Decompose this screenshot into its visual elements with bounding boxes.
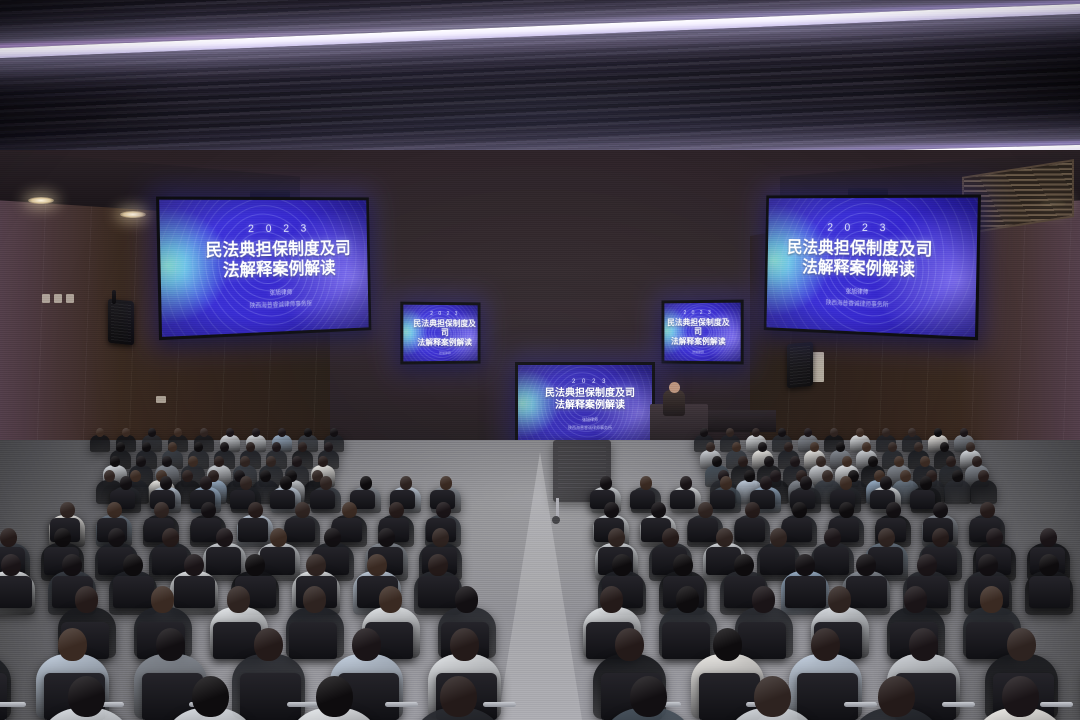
hair-highlight bbox=[318, 456, 328, 467]
hair-highlight bbox=[266, 456, 276, 467]
hair-highlight bbox=[744, 470, 755, 482]
hair-highlight bbox=[932, 528, 949, 547]
audience-member-head bbox=[246, 442, 255, 452]
audience-member-head bbox=[932, 528, 949, 547]
hair-highlight bbox=[200, 476, 212, 490]
audience-member-head bbox=[934, 428, 942, 437]
seminar-chair bbox=[797, 673, 858, 720]
hair-highlight bbox=[455, 586, 478, 613]
hair-highlight bbox=[226, 428, 234, 437]
audience-member-head bbox=[680, 476, 692, 490]
audience-member-head bbox=[120, 476, 132, 490]
audience-member-head bbox=[379, 586, 402, 613]
hair-highlight bbox=[828, 586, 851, 613]
display-mid-right: 2 0 2 3 民法典担保制度及司 法解释案例解读 张旭律师 bbox=[662, 300, 744, 365]
hair-highlight bbox=[248, 502, 263, 518]
audience-member-head bbox=[980, 586, 1003, 613]
hair-highlight bbox=[316, 676, 353, 717]
hair-highlight bbox=[295, 502, 310, 518]
hair-highlight bbox=[1039, 554, 1059, 576]
audience-member-head bbox=[160, 476, 172, 490]
hair-highlight bbox=[980, 586, 1003, 613]
seminar-chair bbox=[760, 547, 795, 574]
hair-highlight bbox=[960, 428, 968, 437]
hair-highlight bbox=[116, 442, 125, 452]
wall-switch-plate-1[interactable] bbox=[42, 294, 50, 303]
audience-member-head bbox=[917, 554, 937, 576]
hair-highlight bbox=[367, 554, 387, 576]
seminar-chair bbox=[710, 490, 735, 509]
audience-member-head bbox=[162, 528, 179, 547]
audience-member-head bbox=[260, 470, 271, 482]
stage-screen-title-1: 民法典担保制度及司 bbox=[545, 388, 635, 400]
audience-member-head bbox=[816, 456, 826, 467]
display-mid-left-year: 2 0 2 3 bbox=[430, 311, 459, 317]
hair-highlight bbox=[324, 528, 341, 547]
seminar-chair bbox=[688, 518, 718, 541]
hair-highlight bbox=[824, 528, 841, 547]
seminar-chair bbox=[270, 490, 295, 509]
audience-member-head bbox=[840, 476, 852, 490]
audience-member-head bbox=[151, 586, 174, 613]
hair-highlight bbox=[306, 554, 326, 576]
audience-member-head bbox=[904, 586, 927, 613]
hair-highlight bbox=[278, 428, 286, 437]
hair-highlight bbox=[389, 502, 404, 518]
audience-member-head bbox=[154, 502, 169, 518]
conference-hall-photo: 2 0 2 3 民法典担保制度及司 法解释案例解读 张旭律师 陕西海普睿诚律师事… bbox=[0, 0, 1080, 720]
hair-highlight bbox=[604, 502, 619, 518]
audience-member-head bbox=[842, 456, 852, 467]
audience-member-head bbox=[96, 428, 104, 437]
chair-tablet-arm bbox=[385, 702, 418, 707]
audience-member-head bbox=[136, 456, 146, 467]
audience-member-head bbox=[966, 442, 975, 452]
audience-member-head bbox=[700, 428, 708, 437]
audience-member-head bbox=[933, 502, 948, 518]
wall-notice-card bbox=[812, 352, 824, 382]
display-mid-left: 2 0 2 3 民法典担保制度及司 法解释案例解读 张旭律师 bbox=[400, 302, 480, 365]
hair-highlight bbox=[600, 586, 623, 613]
audience-member-head bbox=[744, 470, 755, 482]
audience-member-head bbox=[400, 476, 412, 490]
hair-highlight bbox=[151, 586, 174, 613]
chair-tablet-arm bbox=[287, 702, 320, 707]
wall-switch-plate-2[interactable] bbox=[54, 294, 62, 303]
audience-member-torso bbox=[970, 480, 997, 504]
audience-member-head bbox=[60, 502, 75, 518]
hair-highlight bbox=[436, 502, 451, 518]
hair-highlight bbox=[62, 554, 82, 576]
chair-tablet-arm bbox=[0, 702, 26, 707]
audience-member-head bbox=[378, 528, 395, 547]
hair-highlight bbox=[254, 628, 283, 661]
audience-member-head bbox=[316, 676, 353, 717]
audience-member-head bbox=[330, 428, 338, 437]
hair-highlight bbox=[75, 586, 98, 613]
hair-highlight bbox=[716, 528, 733, 547]
hair-highlight bbox=[886, 502, 901, 518]
audience-member-head bbox=[738, 456, 748, 467]
hair-highlight bbox=[790, 456, 800, 467]
audience-member-head bbox=[245, 554, 265, 576]
display-left: 2 0 2 3 民法典担保制度及司 法解释案例解读 张旭律师 陕西海普睿诚律师事… bbox=[156, 197, 371, 341]
audience-member-head bbox=[698, 502, 713, 518]
audience-member-head bbox=[676, 586, 699, 613]
audience-member-head bbox=[1039, 554, 1059, 576]
hair-highlight bbox=[156, 628, 185, 661]
hair-highlight bbox=[662, 528, 679, 547]
hair-highlight bbox=[272, 442, 281, 452]
audience-member-head bbox=[108, 528, 125, 547]
hair-highlight bbox=[795, 554, 815, 576]
audience-member-head bbox=[1, 554, 21, 576]
audience-member-head bbox=[600, 476, 612, 490]
audience-member-head bbox=[248, 502, 263, 518]
hair-highlight bbox=[920, 456, 930, 467]
display-mid-left-title-1: 民法典担保制度及司 bbox=[411, 319, 477, 338]
hair-highlight bbox=[292, 456, 302, 467]
hair-highlight bbox=[800, 476, 812, 490]
audience-member-head bbox=[630, 676, 667, 717]
audience-member-head bbox=[972, 456, 982, 467]
hair-highlight bbox=[804, 428, 812, 437]
audience-member-head bbox=[824, 528, 841, 547]
audience-member-head bbox=[804, 428, 812, 437]
audience-member-head bbox=[978, 554, 998, 576]
audience-member-head bbox=[811, 628, 840, 661]
hair-highlight bbox=[201, 502, 216, 518]
hair-highlight bbox=[298, 442, 307, 452]
hair-highlight bbox=[304, 428, 312, 437]
audience-member-head bbox=[278, 428, 286, 437]
hair-highlight bbox=[934, 428, 942, 437]
hair-highlight bbox=[904, 586, 927, 613]
audience-member-head bbox=[790, 456, 800, 467]
audience-member-head bbox=[306, 554, 326, 576]
hair-highlight bbox=[698, 502, 713, 518]
audience-member-head bbox=[352, 628, 381, 661]
audience-member-head bbox=[952, 470, 963, 482]
audience-member-head bbox=[200, 476, 212, 490]
hair-highlight bbox=[220, 442, 229, 452]
seminar-chair bbox=[260, 547, 295, 574]
hair-highlight bbox=[760, 476, 772, 490]
audience-member-head bbox=[764, 456, 774, 467]
hair-highlight bbox=[303, 586, 326, 613]
audience-member-head bbox=[162, 456, 172, 467]
hair-highlight bbox=[810, 442, 819, 452]
hair-highlight bbox=[280, 476, 292, 490]
audience-member-head bbox=[318, 456, 328, 467]
hair-highlight bbox=[58, 628, 87, 661]
hair-highlight bbox=[734, 554, 754, 576]
seminar-chair bbox=[814, 547, 849, 574]
wall-speaker-right bbox=[787, 342, 813, 389]
hair-highlight bbox=[246, 442, 255, 452]
audience-member-head bbox=[123, 554, 143, 576]
audience-member-head bbox=[54, 528, 71, 547]
hair-highlight bbox=[227, 586, 250, 613]
audience-member-head bbox=[878, 676, 915, 717]
hair-highlight bbox=[732, 442, 741, 452]
hair-highlight bbox=[188, 456, 198, 467]
hair-highlight bbox=[946, 456, 956, 467]
audience-member-head bbox=[188, 456, 198, 467]
audience-member-head bbox=[75, 586, 98, 613]
hair-highlight bbox=[880, 476, 892, 490]
hair-highlight bbox=[920, 476, 932, 490]
hair-highlight bbox=[352, 628, 381, 661]
chair-tablet-arm bbox=[483, 702, 516, 707]
audience-member-head bbox=[254, 628, 283, 661]
hair-highlight bbox=[440, 476, 452, 490]
audience-member-head bbox=[778, 428, 786, 437]
audience-member-head bbox=[240, 476, 252, 490]
audience-member-head bbox=[752, 428, 760, 437]
display-mid-right-speaker: 张旭律师 bbox=[692, 350, 704, 354]
audience-member-head bbox=[107, 502, 122, 518]
audience-member-head bbox=[608, 528, 625, 547]
audience-member-head bbox=[295, 502, 310, 518]
hair-highlight bbox=[245, 554, 265, 576]
audience-member-head bbox=[960, 428, 968, 437]
hair-highlight bbox=[608, 528, 625, 547]
audience-member-head bbox=[324, 442, 333, 452]
audience-member-head bbox=[298, 442, 307, 452]
audience-member-head bbox=[920, 476, 932, 490]
hair-highlight bbox=[260, 470, 271, 482]
audience-member-head bbox=[792, 502, 807, 518]
audience-member-head bbox=[720, 476, 732, 490]
audience-member-head bbox=[360, 476, 372, 490]
seminar-chair bbox=[285, 518, 315, 541]
seminar-chair bbox=[662, 622, 710, 659]
hair-highlight bbox=[184, 554, 204, 576]
seminar-chair bbox=[0, 576, 32, 607]
audience-member-head bbox=[880, 476, 892, 490]
hair-highlight bbox=[878, 676, 915, 717]
display-right-year: 2 0 2 3 bbox=[827, 222, 890, 234]
hair-highlight bbox=[270, 528, 287, 547]
seminar-chair bbox=[174, 576, 215, 607]
audience-member-head bbox=[980, 502, 995, 518]
hair-highlight bbox=[978, 470, 989, 482]
hair-highlight bbox=[811, 628, 840, 661]
hair-highlight bbox=[712, 456, 722, 467]
audience-member-head bbox=[62, 554, 82, 576]
audience-member-head bbox=[440, 676, 477, 717]
hair-highlight bbox=[136, 456, 146, 467]
hair-highlight bbox=[1002, 676, 1039, 717]
audience-member-head bbox=[651, 502, 666, 518]
hair-highlight bbox=[745, 502, 760, 518]
audience-member-head bbox=[104, 470, 115, 482]
audience-member-head bbox=[174, 428, 182, 437]
audience-member-head bbox=[428, 554, 448, 576]
hair-highlight bbox=[107, 502, 122, 518]
audience-member-head bbox=[110, 456, 120, 467]
audience-member-head bbox=[830, 428, 838, 437]
audience-member-head bbox=[156, 628, 185, 661]
display-left-title-2: 法解释案例解读 bbox=[223, 259, 336, 282]
audience-member-head bbox=[882, 428, 890, 437]
audience-member-head bbox=[367, 554, 387, 576]
hair-highlight bbox=[676, 586, 699, 613]
chair-tablet-arm bbox=[942, 702, 975, 707]
hair-highlight bbox=[148, 428, 156, 437]
hair-highlight bbox=[110, 456, 120, 467]
hair-highlight bbox=[1, 554, 21, 576]
audience-member-head bbox=[940, 442, 949, 452]
audience-member-head bbox=[800, 476, 812, 490]
hair-highlight bbox=[840, 476, 852, 490]
hair-highlight bbox=[214, 456, 224, 467]
hair-highlight bbox=[917, 554, 937, 576]
hair-highlight bbox=[122, 428, 130, 437]
hair-highlight bbox=[450, 628, 479, 661]
hair-highlight bbox=[933, 502, 948, 518]
hair-highlight bbox=[882, 428, 890, 437]
hair-highlight bbox=[830, 428, 838, 437]
audience-member-head bbox=[214, 456, 224, 467]
hair-highlight bbox=[400, 476, 412, 490]
hair-highlight bbox=[162, 456, 172, 467]
audience bbox=[0, 400, 1080, 720]
hair-highlight bbox=[754, 676, 791, 717]
audience-member-head bbox=[342, 502, 357, 518]
audience-member-head bbox=[227, 586, 250, 613]
hair-highlight bbox=[630, 676, 667, 717]
audience-member-head bbox=[810, 442, 819, 452]
hair-highlight bbox=[1007, 628, 1036, 661]
audience-member-head bbox=[770, 528, 787, 547]
audience-member-head bbox=[440, 476, 452, 490]
hair-highlight bbox=[720, 476, 732, 490]
audience-member-head bbox=[58, 628, 87, 661]
hair-highlight bbox=[123, 554, 143, 576]
audience-member-head bbox=[266, 456, 276, 467]
seminar-chair bbox=[785, 576, 826, 607]
hair-highlight bbox=[194, 442, 203, 452]
audience-member-head bbox=[856, 554, 876, 576]
audience-member-head bbox=[888, 442, 897, 452]
speaker-bracket-left bbox=[112, 290, 116, 304]
audience-member-head bbox=[1002, 676, 1039, 717]
hair-highlight bbox=[1040, 528, 1057, 547]
audience-member-head bbox=[986, 528, 1003, 547]
audience-member-head bbox=[914, 442, 923, 452]
audience-member-head bbox=[640, 476, 652, 490]
hair-highlight bbox=[940, 442, 949, 452]
hair-highlight bbox=[706, 442, 715, 452]
hair-highlight bbox=[612, 554, 632, 576]
hair-highlight bbox=[432, 528, 449, 547]
audience-member-head bbox=[192, 676, 229, 717]
seminar-chair bbox=[289, 622, 337, 659]
hair-highlight bbox=[0, 528, 17, 547]
seminar-chair bbox=[1029, 576, 1070, 607]
audience-member-head bbox=[760, 476, 772, 490]
display-right-speaker: 张旭律师 bbox=[846, 286, 869, 296]
audience-member-head bbox=[200, 428, 208, 437]
hair-highlight bbox=[428, 554, 448, 576]
audience-member-head bbox=[732, 442, 741, 452]
audience-member-head bbox=[839, 502, 854, 518]
display-left-affiliation: 陕西海普睿诚律师事务所 bbox=[249, 299, 312, 310]
audience-member-head bbox=[600, 586, 623, 613]
hair-highlight bbox=[320, 476, 332, 490]
hair-highlight bbox=[60, 502, 75, 518]
seminar-chair bbox=[238, 518, 268, 541]
audience-member-head bbox=[303, 586, 326, 613]
audience-member-head bbox=[752, 586, 775, 613]
seminar-chair bbox=[0, 673, 7, 720]
audience-member-head bbox=[68, 676, 105, 717]
hair-highlight bbox=[192, 676, 229, 717]
display-mid-right-year: 2 0 2 3 bbox=[684, 310, 713, 316]
hair-highlight bbox=[252, 428, 260, 437]
audience-member-head bbox=[389, 502, 404, 518]
hair-highlight bbox=[770, 528, 787, 547]
hair-highlight bbox=[200, 428, 208, 437]
audience-member-head bbox=[856, 428, 864, 437]
audience-member-head bbox=[432, 528, 449, 547]
hair-highlight bbox=[162, 528, 179, 547]
audience-member-head bbox=[148, 428, 156, 437]
hair-highlight bbox=[738, 456, 748, 467]
seminar-chair bbox=[738, 622, 786, 659]
audience-member-head bbox=[862, 442, 871, 452]
hair-highlight bbox=[182, 470, 193, 482]
audience-member-head bbox=[201, 502, 216, 518]
audience-member-torso bbox=[944, 480, 971, 504]
seminar-chair bbox=[152, 547, 187, 574]
audience-member-head bbox=[713, 628, 742, 661]
hair-highlight bbox=[908, 428, 916, 437]
hair-highlight bbox=[966, 442, 975, 452]
hair-highlight bbox=[822, 470, 833, 482]
hair-highlight bbox=[640, 476, 652, 490]
display-mid-left-title-2: 法解释案例解读 bbox=[417, 338, 472, 348]
presenter-head bbox=[669, 382, 680, 393]
hair-highlight bbox=[96, 428, 104, 437]
hair-highlight bbox=[174, 428, 182, 437]
audience-member-head bbox=[252, 428, 260, 437]
seminar-chair bbox=[910, 490, 935, 509]
display-left-year: 2 0 2 3 bbox=[248, 223, 311, 235]
hair-highlight bbox=[980, 502, 995, 518]
wall-switch-plate-3[interactable] bbox=[66, 294, 74, 303]
audience-member-head bbox=[909, 628, 938, 661]
display-mid-right-title-1: 民法典担保制度及司 bbox=[664, 318, 732, 337]
audience-member-head bbox=[455, 586, 478, 613]
chair-tablet-arm bbox=[844, 702, 877, 707]
hair-highlight bbox=[154, 502, 169, 518]
seminar-chair bbox=[310, 490, 335, 509]
hair-highlight bbox=[360, 476, 372, 490]
audience-member-head bbox=[304, 428, 312, 437]
hair-highlight bbox=[142, 442, 151, 452]
wall-speaker-left bbox=[108, 299, 134, 346]
hair-highlight bbox=[168, 442, 177, 452]
audience-member-head bbox=[900, 470, 911, 482]
hair-highlight bbox=[379, 586, 402, 613]
seminar-chair bbox=[735, 518, 765, 541]
hair-highlight bbox=[54, 528, 71, 547]
audience-member-head bbox=[734, 554, 754, 576]
seminar-chair bbox=[206, 547, 241, 574]
